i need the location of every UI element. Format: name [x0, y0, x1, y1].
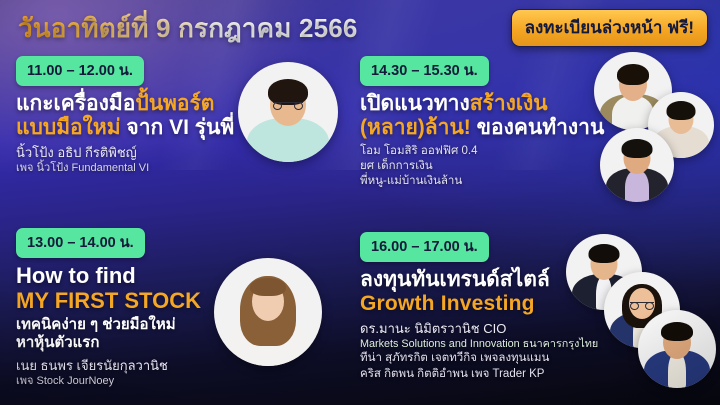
- session-1-time-badge: 11.00 – 12.00 น.: [16, 56, 144, 86]
- event-poster: วันอาทิตย์ที่ 9 กรกฎาคม 2566 ลงทะเบียนล่…: [0, 0, 720, 405]
- speaker-portrait-session-4-c: [638, 310, 716, 388]
- session-1-title-line1-highlight: ปั้นพอร์ต: [135, 92, 214, 115]
- session-2-title-line2-plain: ของคนทำงาน: [471, 116, 605, 139]
- session-1-title-line2-highlight: แบบมือใหม่: [16, 116, 121, 139]
- page-title: วันอาทิตย์ที่ 9 กรกฎาคม 2566: [18, 8, 358, 49]
- speaker-portrait-session-1: [238, 62, 338, 162]
- session-1-title-line1-plain: แกะเครื่องมือ: [16, 92, 135, 115]
- session-2-title-line1-plain: เปิดแนวทาง: [360, 92, 470, 115]
- speaker-portrait-session-3: [214, 258, 322, 366]
- session-2-title-line1-highlight: สร้างเงิน: [470, 92, 548, 115]
- session-2-title-line2-highlight: (หลาย)ล้าน!: [360, 116, 471, 139]
- session-2-time-badge: 14.30 – 15.30 น.: [360, 56, 489, 86]
- session-1-title-line2-plain: จาก VI รุ่นพี่: [121, 116, 235, 139]
- session-3-time-badge: 13.00 – 14.00 น.: [16, 228, 145, 258]
- speaker-portrait-session-2-c: [600, 128, 674, 202]
- free-registration-badge[interactable]: ลงทะเบียนล่วงหน้า ฟรี!: [511, 9, 708, 47]
- session-4-time-badge: 16.00 – 17.00 น.: [360, 232, 489, 262]
- session-1-speaker-page: เพจ นิ้วโป้ง Fundamental VI: [16, 161, 346, 176]
- session-3-speaker-page: เพจ Stock JourNoey: [16, 374, 346, 389]
